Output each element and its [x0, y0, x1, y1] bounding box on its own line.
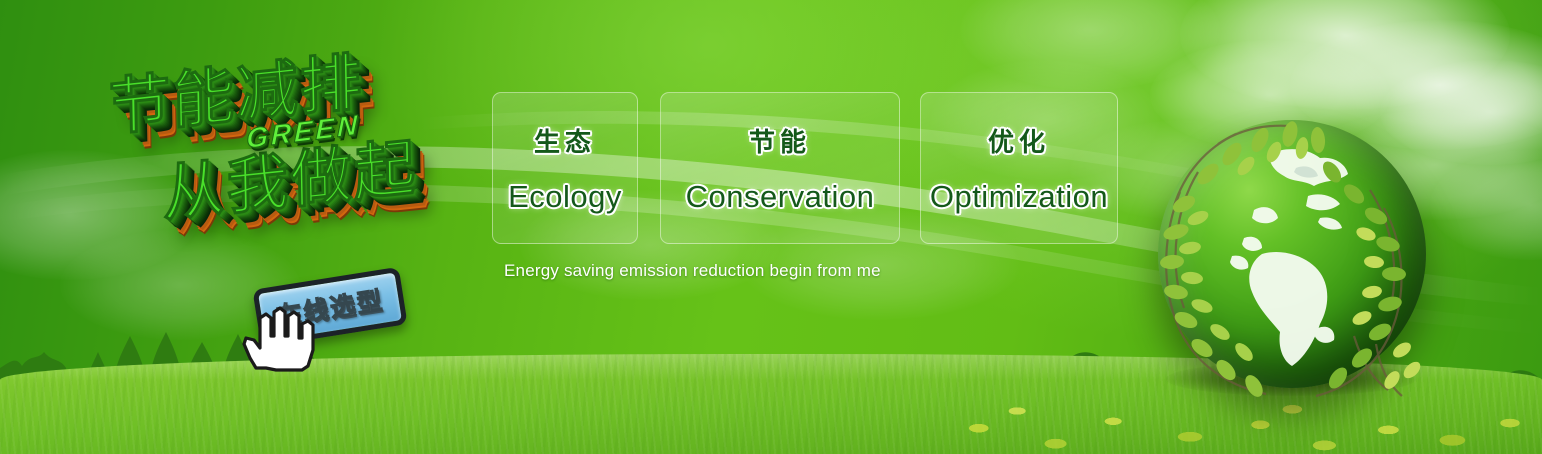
cloud-icon: [1180, 0, 1510, 110]
leafy-globe-illustration: [1140, 112, 1440, 412]
cloud-icon: [960, 0, 1220, 90]
headline-overlay-word: GREEN: [246, 109, 360, 155]
globe-sphere: [1158, 120, 1426, 388]
hand-pointer-icon: [236, 298, 322, 372]
online-selection-cta[interactable]: 在线选型: [248, 272, 423, 352]
eco-banner: 节能减排 从我做起 GREEN 在线选型 生态 Ecology 节能 Conse…: [0, 0, 1542, 454]
feature-card-ecology[interactable]: 生态 Ecology: [492, 92, 638, 244]
headline-artwork: 节能减排 从我做起 GREEN: [100, 38, 490, 268]
feature-card-conservation[interactable]: 节能 Conservation: [660, 92, 900, 244]
feature-card-optimization[interactable]: 优化 Optimization: [920, 92, 1118, 244]
cloud-icon: [0, 150, 200, 280]
headline-line-top: 节能减排: [108, 30, 364, 147]
feature-card-title-cn: 生态: [534, 122, 596, 159]
banner-tagline: Energy saving emission reduction begin f…: [504, 261, 881, 281]
feature-card-title-en: Ecology: [508, 179, 622, 215]
feature-card-title-en: Conservation: [686, 179, 875, 215]
feature-card-title-cn: 节能: [749, 122, 811, 159]
feature-card-title-en: Optimization: [930, 179, 1108, 215]
globe-continents-icon: [1158, 120, 1426, 388]
cloud-icon: [1430, 150, 1542, 260]
feature-card-title-cn: 优化: [988, 122, 1050, 159]
headline-line-bottom: 从我做起: [162, 116, 418, 233]
